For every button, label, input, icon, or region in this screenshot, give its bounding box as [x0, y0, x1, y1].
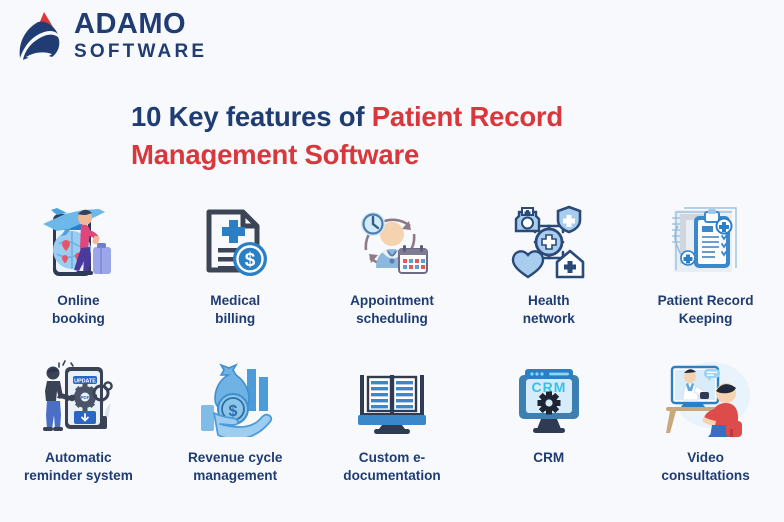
feature-label: Revenue cycle management: [188, 449, 282, 486]
feature-crm[interactable]: CRM CRM: [470, 353, 627, 486]
feature-label: Patient Record Keeping: [658, 292, 754, 329]
feature-label: Online booking: [52, 292, 105, 329]
feature-label: Medical billing: [210, 292, 260, 329]
feature-revenue-cycle-management[interactable]: $ Revenue cycle management: [157, 353, 314, 486]
page-title-part-navy: 10 Key features of: [131, 101, 372, 132]
feature-label: Automatic reminder system: [24, 449, 133, 486]
feature-video-consultations[interactable]: Video consultations: [627, 353, 784, 486]
brand-name-top: ADAMO: [74, 10, 207, 39]
svg-text:PDF: PDF: [81, 395, 90, 400]
feature-label: Video consultations: [661, 449, 749, 486]
health-network-icon: [510, 196, 588, 280]
feature-label: Custom e- documentation: [343, 449, 440, 486]
page-title: 10 Key features of Patient Record Manage…: [131, 98, 731, 174]
svg-text:$: $: [245, 250, 256, 271]
feature-appointment-scheduling[interactable]: Appointment scheduling: [314, 196, 471, 329]
features-row-2: UPDATE PDF: [0, 353, 784, 486]
video-consultations-icon: [660, 353, 752, 437]
patient-record-keeping-icon: [666, 196, 746, 280]
medical-billing-icon: $: [199, 196, 271, 280]
feature-custom-e-documentation[interactable]: Custom e- documentation: [314, 353, 471, 486]
feature-automatic-reminder-system[interactable]: UPDATE PDF: [0, 353, 157, 486]
adamo-swoosh-logo-icon: [14, 8, 66, 62]
revenue-cycle-management-icon: $: [195, 353, 275, 437]
features-row-1: Online booking $ Medical billing: [0, 196, 784, 329]
feature-medical-billing[interactable]: $ Medical billing: [157, 196, 314, 329]
feature-health-network[interactable]: Health network: [470, 196, 627, 329]
feature-online-booking[interactable]: Online booking: [0, 196, 157, 329]
feature-patient-record-keeping[interactable]: Patient Record Keeping: [627, 196, 784, 329]
feature-label: CRM: [533, 449, 564, 467]
feature-label: Appointment scheduling: [350, 292, 434, 329]
brand-name-bottom: SOFTWARE: [74, 42, 207, 61]
feature-label: Health network: [523, 292, 575, 329]
brand-logo: ADAMO SOFTWARE: [14, 8, 207, 62]
features-grid: Online booking $ Medical billing: [0, 196, 784, 485]
automatic-reminder-system-icon: UPDATE PDF: [35, 353, 121, 437]
online-booking-icon: [35, 196, 121, 280]
crm-icon: CRM: [511, 353, 587, 437]
custom-e-documentation-icon: [352, 353, 432, 437]
appointment-scheduling-icon: [352, 196, 432, 280]
